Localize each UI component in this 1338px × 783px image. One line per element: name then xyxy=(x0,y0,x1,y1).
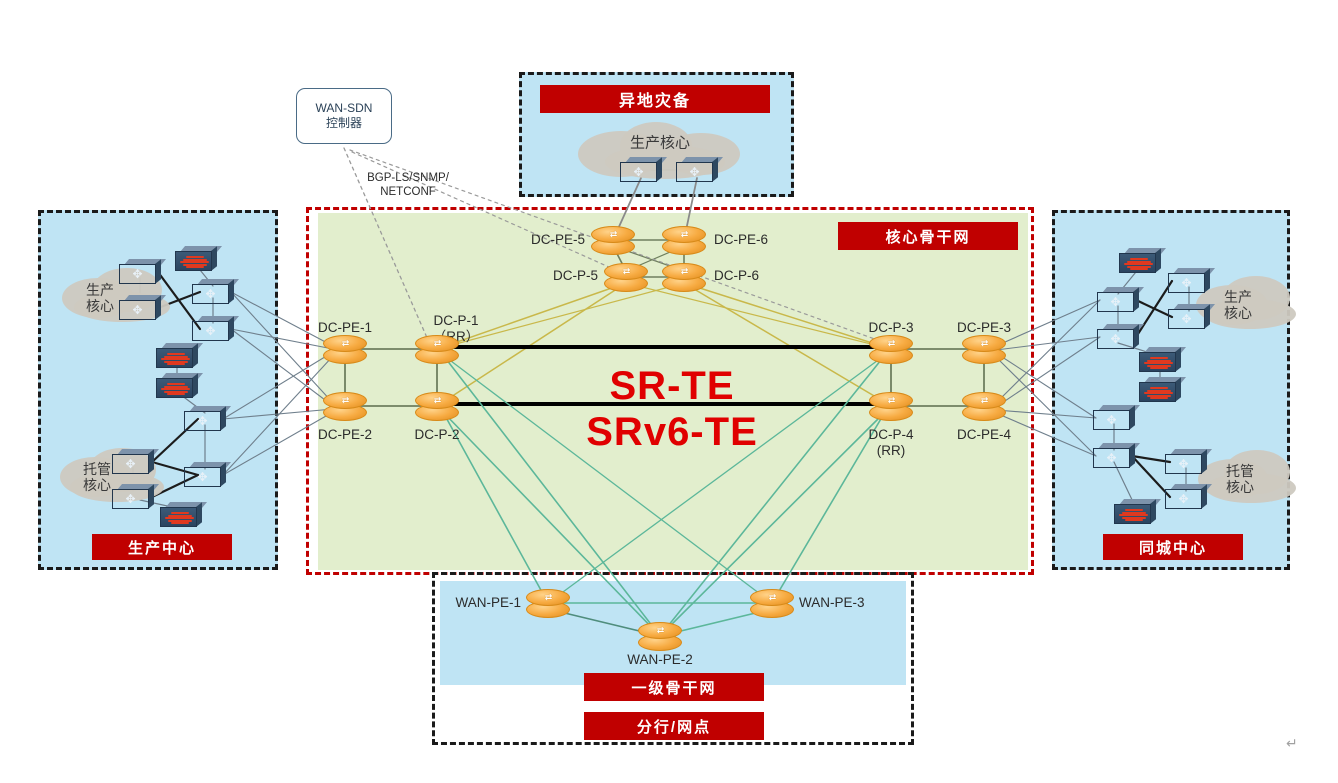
switch-pc-sw-d1[interactable]: ✥ xyxy=(112,449,154,475)
firewall-pc-fw-2[interactable] xyxy=(156,343,198,369)
router-label-dc-pe-6: DC-PE-6 xyxy=(714,232,768,248)
router-sublabel-dc-p-4: (RR) xyxy=(868,443,913,459)
samecity-hosting-core-cloud-label: 托管 核心 xyxy=(1226,463,1254,495)
firewall-sc-fw-3[interactable] xyxy=(1139,377,1181,403)
badge-core-backbone: 核心骨干网 xyxy=(838,222,1018,250)
router-label-dc-p-6: DC-P-6 xyxy=(714,268,759,284)
router-dc-p-5[interactable]: ⇄ xyxy=(604,262,648,292)
router-dc-pe-2[interactable]: ⇄ xyxy=(323,391,367,421)
switch-pc-sw-a1[interactable]: ✥ xyxy=(119,259,161,285)
samecity-production-core-cloud-label: 生产 核心 xyxy=(1224,289,1252,321)
router-dc-p-3[interactable]: ⇄ xyxy=(869,334,913,364)
switch-pc-sw-d2[interactable]: ✥ xyxy=(112,484,154,510)
overlay-label-srv6-te: SRv6-TE xyxy=(586,410,758,455)
firewall-pc-fw-4[interactable] xyxy=(160,502,202,528)
router-wan-pe-3[interactable]: ⇄ xyxy=(750,588,794,618)
router-label-dc-p-2: DC-P-2 xyxy=(414,427,459,443)
switch-sc-sw-c1[interactable]: ✥ xyxy=(1093,405,1135,431)
router-dc-p-1[interactable]: ⇄ xyxy=(415,334,459,364)
control-protocol-label-line2: NETCONF xyxy=(380,186,436,199)
badge-primary-backbone: 一级骨干网 xyxy=(584,673,764,701)
switch-pc-sw-a2[interactable]: ✥ xyxy=(119,295,161,321)
router-dc-pe-1[interactable]: ⇄ xyxy=(323,334,367,364)
router-label-dc-pe-4: DC-PE-4 xyxy=(957,427,1011,443)
hosting-core-cloud-label: 托管 核心 xyxy=(83,461,111,493)
router-label-wan-pe-3: WAN-PE-3 xyxy=(799,595,865,611)
switch-sc-sw-d2[interactable]: ✥ xyxy=(1165,484,1207,510)
control-protocol-label-line1: BGP-LS/SNMP/ xyxy=(367,172,449,185)
switch-pc-sw-c2[interactable]: ✥ xyxy=(184,462,226,488)
router-label-dc-pe-5: DC-PE-5 xyxy=(531,232,585,248)
router-dc-p-6[interactable]: ⇄ xyxy=(662,262,706,292)
switch-sc-sw-a2[interactable]: ✥ xyxy=(1097,324,1139,350)
router-dc-pe-5[interactable]: ⇄ xyxy=(591,225,635,255)
switch-sc-sw-a1[interactable]: ✥ xyxy=(1097,287,1139,313)
badge-disaster-recovery: 异地灾备 xyxy=(540,85,770,113)
firewall-sc-fw-4[interactable] xyxy=(1114,499,1156,525)
router-dc-pe-6[interactable]: ⇄ xyxy=(662,225,706,255)
dr-cloud-label: 生产核心 xyxy=(630,134,690,151)
badge-samecity-center: 同城中心 xyxy=(1103,534,1243,560)
router-label-wan-pe-1: WAN-PE-1 xyxy=(455,595,521,611)
switch-sc-sw-b1[interactable]: ✥ xyxy=(1168,268,1210,294)
switch-sc-sw-b2[interactable]: ✥ xyxy=(1168,304,1210,330)
router-wan-pe-2[interactable]: ⇄ xyxy=(638,621,682,651)
production-core-cloud-label: 生产 核心 xyxy=(86,282,114,314)
firewall-sc-fw-2[interactable] xyxy=(1139,347,1181,373)
switch-pc-sw-c1[interactable]: ✥ xyxy=(184,406,226,432)
router-dc-pe-3[interactable]: ⇄ xyxy=(962,334,1006,364)
router-dc-pe-4[interactable]: ⇄ xyxy=(962,391,1006,421)
badge-branch-outlet: 分行/网点 xyxy=(584,712,764,740)
switch-dr-sw-1[interactable]: ✥ xyxy=(620,157,662,183)
router-dc-p-2[interactable]: ⇄ xyxy=(415,391,459,421)
wan-sdn-controller-box[interactable]: WAN-SDN 控制器 xyxy=(296,88,392,144)
overlay-label-sr-te: SR-TE xyxy=(610,364,735,409)
router-label-dc-p-4: DC-P-4(RR) xyxy=(868,427,913,458)
badge-production-center: 生产中心 xyxy=(92,534,232,560)
sdn-controller-title: WAN-SDN xyxy=(316,101,373,116)
switch-pc-sw-b1[interactable]: ✥ xyxy=(192,279,234,305)
switch-sc-sw-d1[interactable]: ✥ xyxy=(1165,449,1207,475)
router-label-dc-pe-2: DC-PE-2 xyxy=(318,427,372,443)
router-wan-pe-1[interactable]: ⇄ xyxy=(526,588,570,618)
paragraph-mark-artifact: ↵ xyxy=(1286,735,1298,752)
router-label-dc-p-5: DC-P-5 xyxy=(553,268,598,284)
sdn-controller-subtitle: 控制器 xyxy=(326,116,362,131)
firewall-pc-fw-3[interactable] xyxy=(156,373,198,399)
switch-sc-sw-c2[interactable]: ✥ xyxy=(1093,443,1135,469)
diagram-canvas: WAN-SDN 控制器 BGP-LS/SNMP/ NETCONF 异地灾备 核心… xyxy=(0,0,1338,783)
switch-dr-sw-2[interactable]: ✥ xyxy=(676,157,718,183)
router-label-wan-pe-2: WAN-PE-2 xyxy=(627,652,693,668)
switch-pc-sw-b2[interactable]: ✥ xyxy=(192,316,234,342)
firewall-sc-fw-1[interactable] xyxy=(1119,248,1161,274)
firewall-pc-fw-1[interactable] xyxy=(175,246,217,272)
router-dc-p-4[interactable]: ⇄ xyxy=(869,391,913,421)
